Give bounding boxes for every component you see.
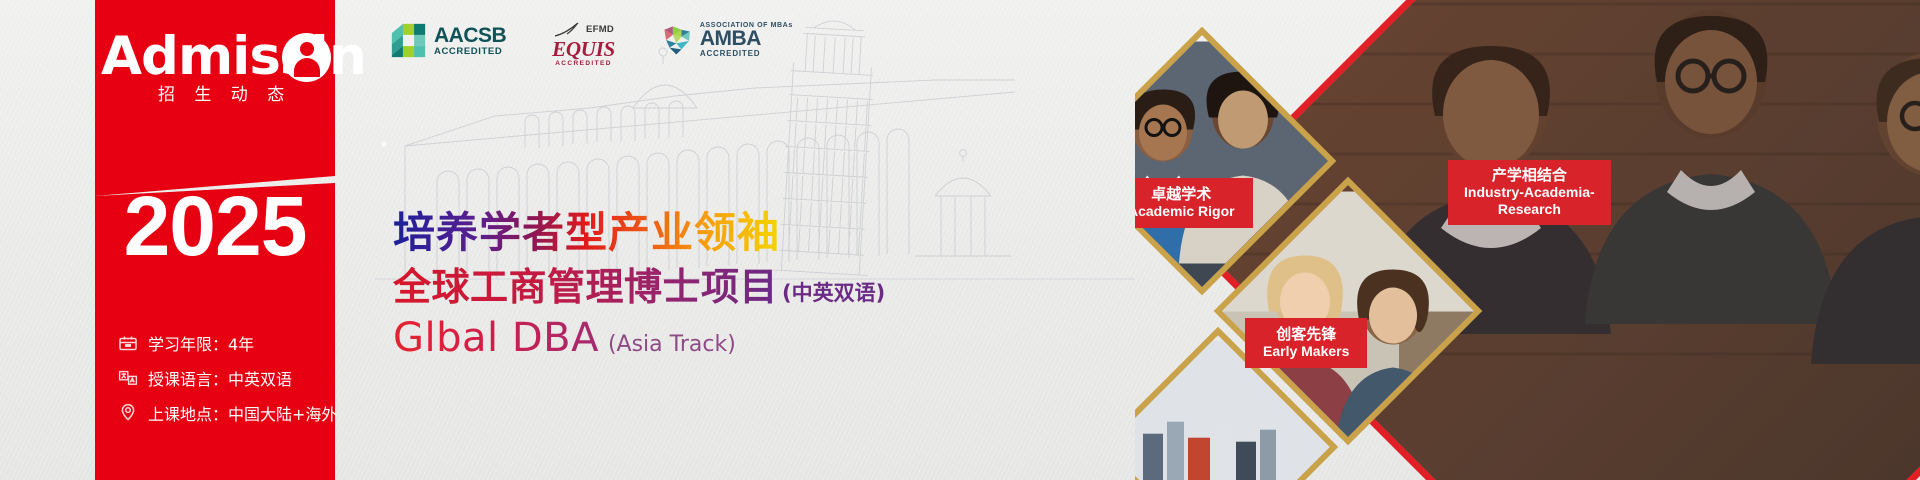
calendar-icon [117, 333, 139, 353]
center-content: AACSB ACCREDITED EFMD EQUIS ACCREDITED [335, 0, 1165, 480]
year-label: 2025 [95, 184, 335, 268]
program-en-note: (Asia Track) [608, 332, 736, 357]
highlight-academic-rigor-en: Academic Rigor [1135, 203, 1235, 220]
admission-logo-cn: 招 生 动 态 [158, 80, 291, 105]
fact-language: 授课语言：中英双语 [117, 360, 347, 395]
equis-accreditation: EFMD EQUIS ACCREDITED [552, 22, 615, 68]
amba-sub: ACCREDITED [700, 50, 793, 58]
program-cn-line: 全球工商管理博士项目 (中英双语) [393, 266, 1153, 308]
admission-logo: Admissi 招 生 动 态 n [101, 30, 347, 110]
highlight-industry-academia-en2: Research [1464, 201, 1595, 218]
program-facts: 学习年限：4年 授课语言：中英双语 [117, 325, 347, 430]
fact-location: 上课地点：中国大陆+海外 [117, 395, 347, 430]
fact-language-text: 授课语言：中英双语 [148, 366, 292, 390]
program-en-line: Glbal DBA (Asia Track) [393, 316, 1153, 360]
aacsb-name: AACSB [434, 25, 506, 46]
person-in-circle-icon [282, 33, 331, 82]
program-cn-note: (中英双语) [782, 277, 885, 307]
efmd-label: EFMD [586, 25, 614, 35]
photo-collage: 卓越学术 Academic Rigor 产学相结合 Industry-Acade… [1135, 0, 1920, 480]
location-pin-icon [117, 403, 139, 423]
fact-location-text: 上课地点：中国大陆+海外 [148, 401, 337, 425]
highlight-early-makers-en: Early Makers [1263, 343, 1349, 360]
highlight-industry-academia-cn: 产学相结合 [1464, 166, 1595, 184]
aacsb-logo-icon [390, 22, 427, 59]
tagline: 培养学者型产业领袖 [393, 210, 780, 256]
accreditation-logos: AACSB ACCREDITED EFMD EQUIS ACCREDITED [390, 22, 793, 68]
highlight-industry-academia-en: Industry-Academia- [1464, 184, 1595, 201]
program-en-title: Glbal DBA [393, 316, 599, 360]
aacsb-sub: ACCREDITED [434, 47, 506, 57]
highlight-industry-academia: 产学相结合 Industry-Academia- Research [1448, 160, 1611, 225]
highlight-academic-rigor: 卓越学术 Academic Rigor [1135, 178, 1253, 228]
fact-duration: 学习年限：4年 [117, 325, 347, 360]
program-cn-title: 全球工商管理博士项目 [393, 266, 778, 308]
highlight-academic-rigor-cn: 卓越学术 [1135, 185, 1235, 203]
amba-logo-icon [661, 23, 695, 57]
left-red-panel: Admissi 招 生 动 态 n 2025 学习年限：4年 [95, 0, 335, 480]
fact-duration-text: 学习年限：4年 [148, 331, 254, 355]
equis-name: EQUIS [552, 39, 615, 60]
amba-accreditation: ASSOCIATION OF MBAs AMBA ACCREDITED [661, 22, 793, 58]
highlight-early-makers-cn: 创客先锋 [1263, 325, 1349, 343]
highlight-early-makers: 创客先锋 Early Makers [1245, 318, 1367, 368]
equis-swoosh-icon [553, 22, 583, 38]
equis-sub: ACCREDITED [552, 61, 615, 68]
aacsb-accreditation: AACSB ACCREDITED [390, 22, 506, 59]
amba-name: AMBA [700, 28, 793, 49]
headline-block: 培养学者型产业领袖 全球工商管理博士项目 (中英双语) Glbal DBA (A… [393, 210, 1153, 360]
admission-banner: Admissi 招 生 动 态 n 2025 学习年限：4年 [0, 0, 1920, 480]
language-icon [117, 368, 139, 388]
